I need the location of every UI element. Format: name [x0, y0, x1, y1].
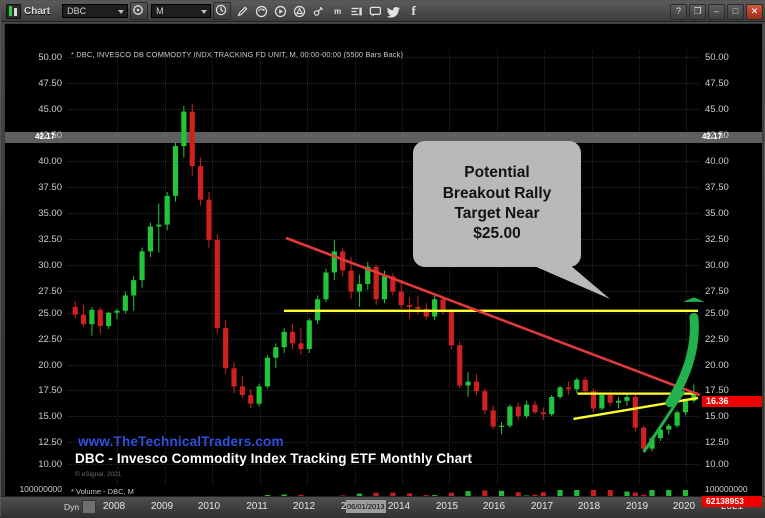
last-price-tag: 16.36: [702, 396, 762, 407]
watermark-url: www.TheTechnicalTraders.com: [78, 434, 284, 449]
symbol-value: DBC: [63, 6, 86, 16]
window-titlebar: Chart DBC M m: [1, 1, 765, 22]
maximize-button[interactable]: □: [727, 4, 744, 20]
symbol-search-button[interactable]: [130, 2, 148, 20]
date-tick-2011: 2011: [246, 501, 268, 512]
date-tick-2017: 2017: [531, 501, 553, 512]
interval-value: M: [152, 6, 164, 16]
price-axis-right[interactable]: 50.0047.50 45.0042.50 40.0037.50 35.0032…: [700, 24, 762, 514]
app-logo-icon: [6, 4, 21, 19]
volume-last-tag: 62138953: [702, 496, 762, 507]
list-icon[interactable]: [348, 3, 365, 20]
time-template-button[interactable]: [213, 2, 231, 20]
volume-header-label: * Volume - DBC, M: [71, 487, 134, 496]
crosshair-price-left: 42.17: [35, 132, 55, 141]
esignal-chart-window: Chart DBC M m: [0, 0, 765, 517]
annotation-callout: PotentialBreakout RallyTarget Near$25.00: [413, 141, 581, 267]
interval-input[interactable]: M: [151, 4, 211, 18]
dyn-icon[interactable]: [82, 500, 96, 514]
play-icon[interactable]: [272, 3, 289, 20]
chevron-down-icon[interactable]: [201, 10, 207, 14]
chart-header-label: * DBC, INVESCO DB COMMODTY INDX TRACKING…: [71, 50, 403, 59]
date-tick-2009: 2009: [151, 501, 173, 512]
date-axis[interactable]: Dyn 2008 2009 2010 2011 2012 2013 2014 2…: [1, 496, 765, 518]
minimize-button[interactable]: –: [708, 4, 725, 20]
watermark-title: DBC - Invesco Commodity Index Tracking E…: [75, 451, 472, 466]
close-button[interactable]: ✕: [746, 4, 763, 20]
m-icon[interactable]: m: [329, 3, 346, 20]
twitter-icon[interactable]: [386, 3, 403, 20]
volume-axis-top-right: 100000000: [705, 484, 748, 494]
chat-icon[interactable]: [367, 3, 384, 20]
date-tick-2012: 2012: [293, 501, 315, 512]
annotation-text: PotentialBreakout RallyTarget Near$25.00: [443, 163, 552, 245]
facebook-icon[interactable]: f: [405, 3, 422, 20]
window-controls: ? ❐ – □ ✕: [668, 4, 763, 20]
copyright-label: © eSignal, 2021: [75, 471, 121, 478]
price-axis-left[interactable]: 50.0047.50 45.0042.50 40.0037.50 35.0032…: [5, 24, 67, 514]
link-icon[interactable]: [310, 3, 327, 20]
crosshair-price-right: 42.17: [702, 132, 722, 141]
symbol-input[interactable]: DBC: [62, 4, 128, 18]
date-tick-2015: 2015: [436, 501, 458, 512]
alert-icon[interactable]: [291, 3, 308, 20]
refresh-icon[interactable]: [253, 3, 270, 20]
date-tick-2019: 2019: [626, 501, 648, 512]
date-tick-2008: 2008: [103, 501, 125, 512]
date-tick-2014: 2014: [388, 501, 410, 512]
help-button[interactable]: ?: [670, 4, 687, 20]
crosshair-date-label: 06/01/2013: [346, 500, 386, 513]
date-tick-2016: 2016: [483, 501, 505, 512]
restore-button[interactable]: ❐: [689, 4, 706, 20]
date-tick-2020: 2020: [673, 501, 695, 512]
date-tick-2010: 2010: [198, 501, 220, 512]
date-tick-2018: 2018: [578, 501, 600, 512]
volume-axis-top-left: 100000000: [19, 484, 62, 494]
chart-canvas[interactable]: * DBC, INVESCO DB COMMODTY INDX TRACKING…: [4, 23, 763, 515]
window-title: Chart: [24, 6, 50, 17]
dyn-button[interactable]: Dyn: [64, 500, 96, 514]
chevron-down-icon[interactable]: [118, 10, 124, 14]
dyn-label: Dyn: [64, 502, 79, 512]
draw-pencil-icon[interactable]: [234, 3, 251, 20]
